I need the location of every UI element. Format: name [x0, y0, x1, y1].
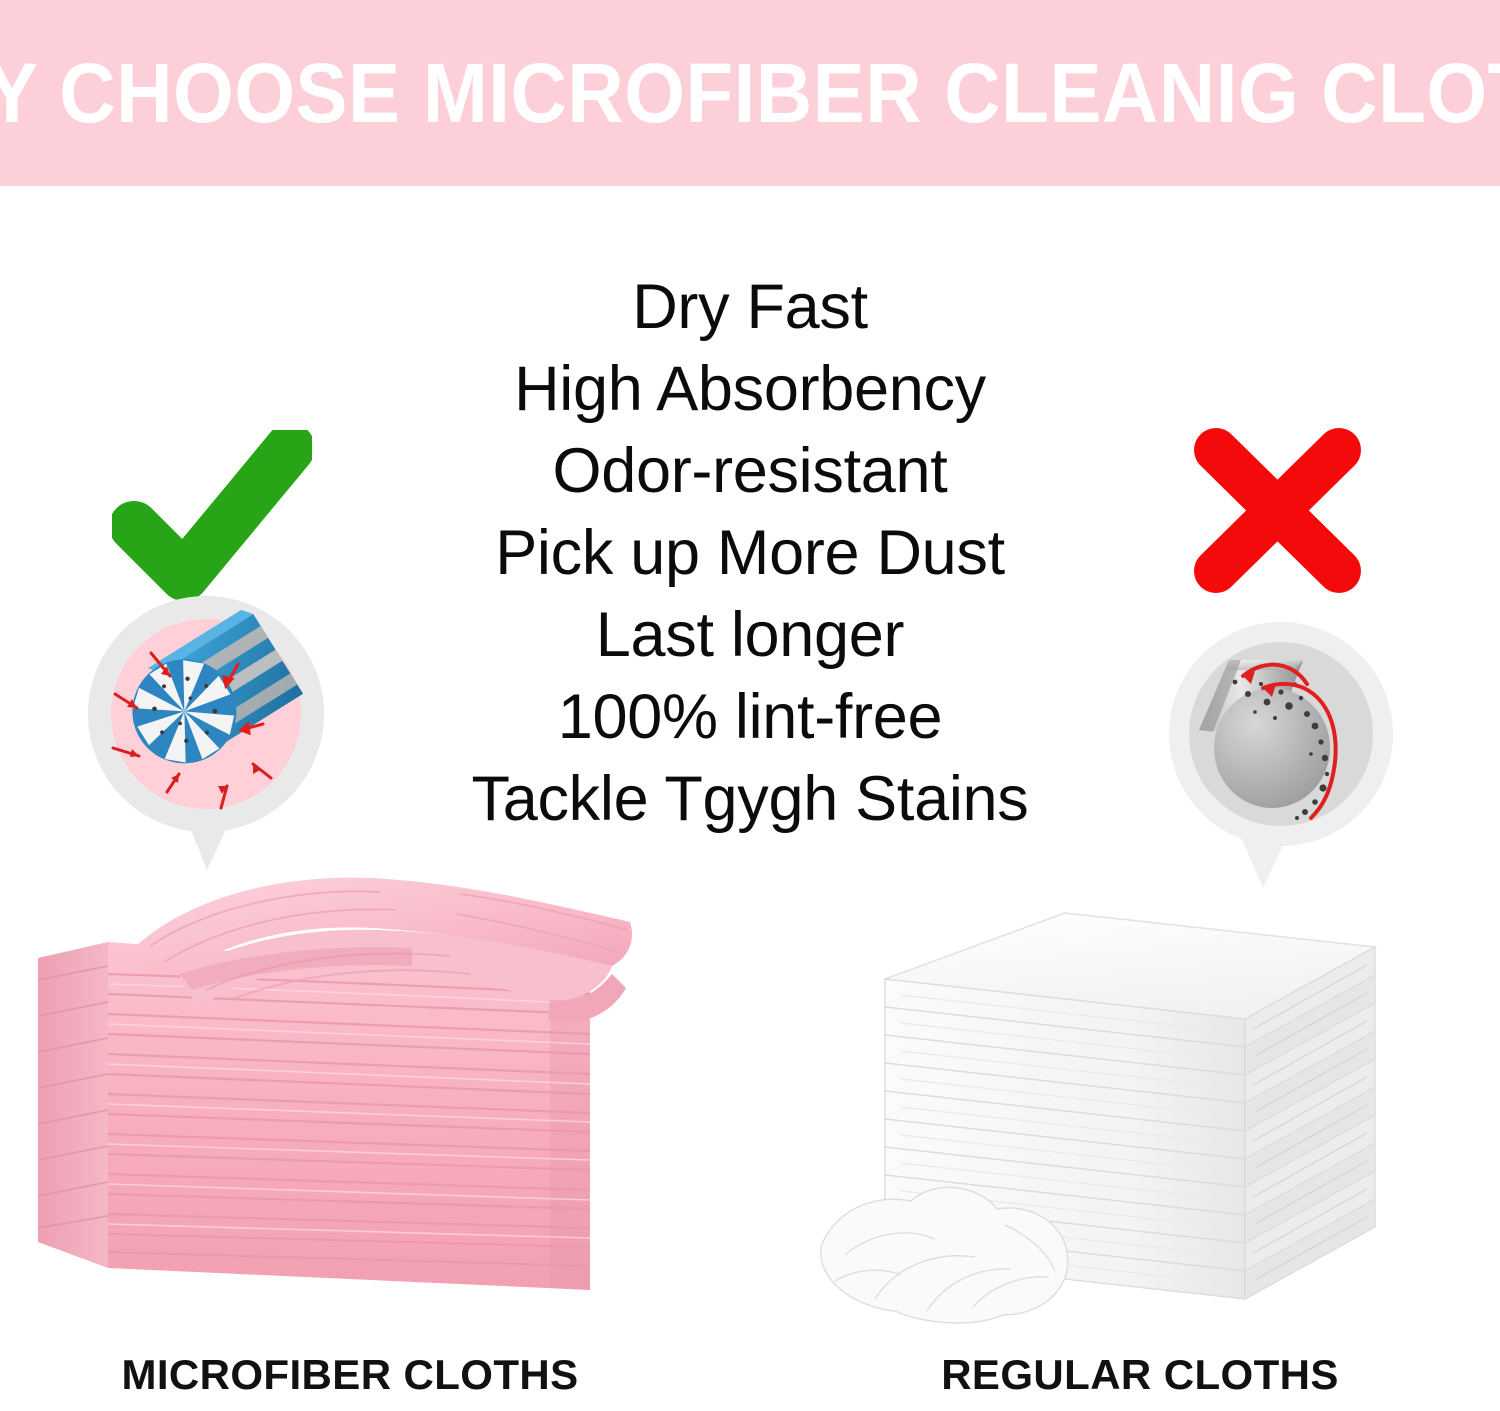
- feature-item: 100% lint-free: [375, 676, 1125, 758]
- microfiber-cross-section-magnifier-icon: [75, 596, 341, 898]
- feature-item: Last longer: [375, 594, 1125, 676]
- caption-microfiber-cloths: MICROFIBER CLOTHS: [0, 1352, 700, 1398]
- white-regular-cloth-stack: [815, 895, 1445, 1335]
- pink-microfiber-cloth-stack: [30, 870, 660, 1330]
- header-banner: WHY CHOOSE MICROFIBER CLEANIG CLOTHS: [0, 0, 1500, 186]
- infographic-page: WHY CHOOSE MICROFIBER CLEANIG CLOTHS Dry…: [0, 0, 1500, 1411]
- red-cross-icon: [1190, 428, 1365, 593]
- feature-item: Dry Fast: [375, 266, 1125, 348]
- feature-list: Dry Fast High Absorbency Odor-resistant …: [375, 266, 1125, 840]
- feature-item: High Absorbency: [375, 348, 1125, 430]
- feature-item: Tackle Tgygh Stains: [375, 758, 1125, 840]
- feature-item: Odor-resistant: [375, 430, 1125, 512]
- green-check-icon: [112, 430, 312, 600]
- feature-item: Pick up More Dust: [375, 512, 1125, 594]
- caption-regular-cloths: REGULAR CLOTHS: [790, 1352, 1490, 1398]
- page-title: WHY CHOOSE MICROFIBER CLEANIG CLOTHS: [53, 0, 1448, 186]
- regular-fiber-cylinder-magnifier-icon: [1155, 622, 1410, 912]
